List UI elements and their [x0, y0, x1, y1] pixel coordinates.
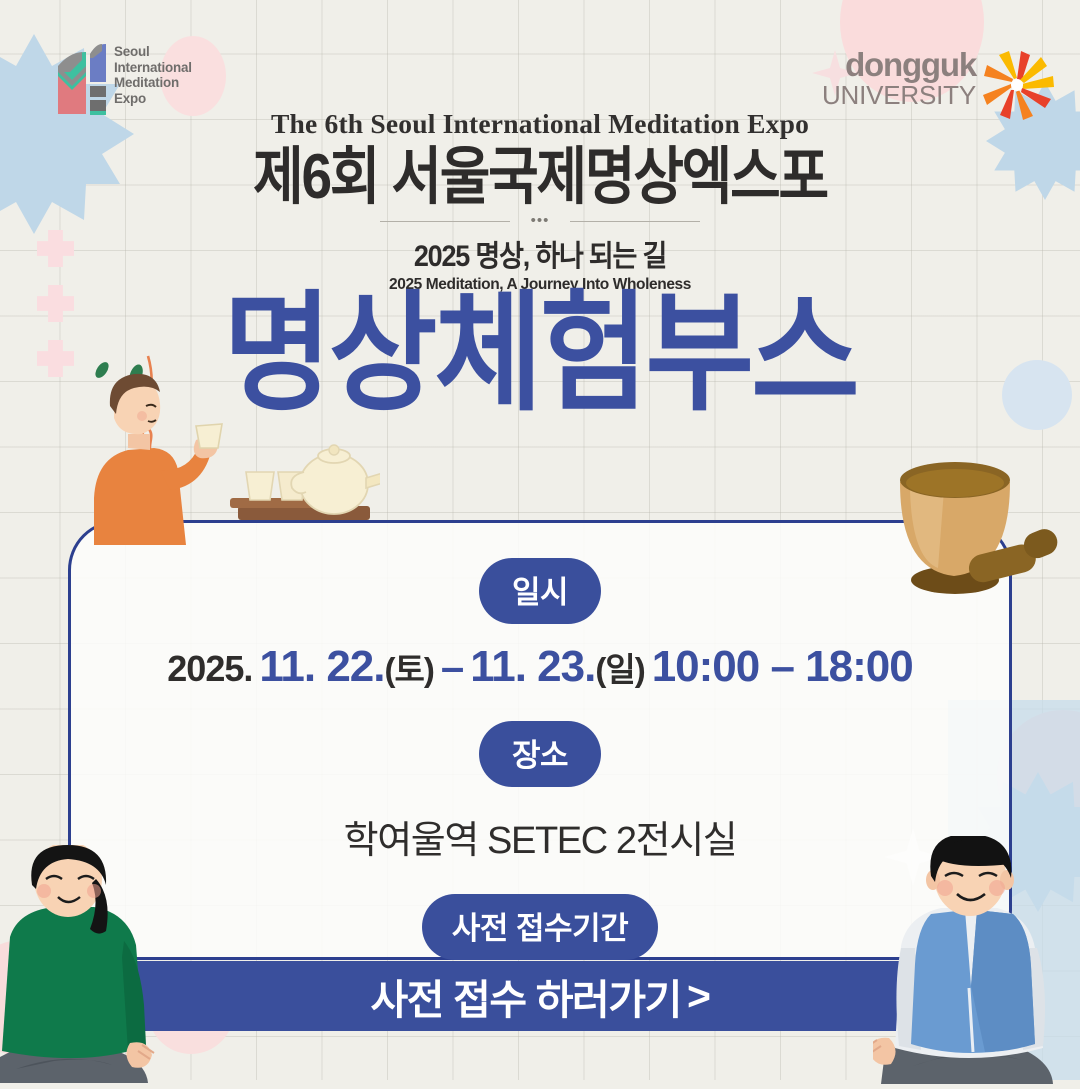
place-badge: 장소: [479, 721, 601, 787]
woman-meditating-illustration: [0, 845, 226, 1083]
date-badge-row: 일시: [68, 558, 1012, 624]
place-badge-row: 장소: [68, 721, 1012, 787]
divider-dots: •••: [531, 216, 550, 226]
event-date-line: 2025.11. 22.(토)–11. 23.(일)10:00 – 18:00: [68, 642, 1012, 692]
sime-line-2: International: [114, 60, 192, 76]
poster-header: The 6th Seoul International Meditation E…: [0, 108, 1080, 294]
sime-line-1: Seoul: [114, 44, 192, 60]
korean-title: 제6회 서울국제명상엑스포: [0, 141, 1080, 212]
singing-bowl-illustration: [880, 440, 1080, 620]
sime-logo-mark: [56, 42, 110, 116]
date-badge: 일시: [479, 558, 601, 624]
sime-logo-text: Seoul International Meditation Expo: [114, 44, 192, 106]
sime-line-3: Meditation: [114, 75, 192, 91]
chevron-right-icon: >: [687, 973, 710, 1020]
registration-period-badge: 사전 접수기간: [422, 894, 658, 960]
dongguk-wordmark: dongguk: [816, 48, 976, 81]
dongguk-university-label: UNIVERSITY: [816, 82, 976, 109]
date-end-dow: (일): [595, 651, 644, 688]
event-time: 10:00 – 18:00: [652, 642, 913, 691]
header-divider: •••: [380, 216, 700, 228]
date-end: 11. 23.: [470, 642, 595, 691]
korean-slogan: 2025 명상, 하나 되는 길: [0, 232, 1080, 275]
person-drinking-tea-illustration: [70, 330, 380, 545]
date-start: 11. 22.: [259, 642, 384, 691]
divider-line-right: [570, 221, 700, 222]
date-dash: –: [441, 643, 463, 690]
sime-line-4: Expo: [114, 91, 192, 107]
date-start-dow: (토): [385, 651, 434, 688]
english-title: The 6th Seoul International Meditation E…: [0, 108, 1080, 140]
divider-line-left: [380, 221, 510, 222]
man-meditating-illustration: [873, 836, 1080, 1084]
cta-label: 사전 접수 하러가기: [370, 966, 681, 1026]
date-year: 2025.: [167, 648, 252, 689]
